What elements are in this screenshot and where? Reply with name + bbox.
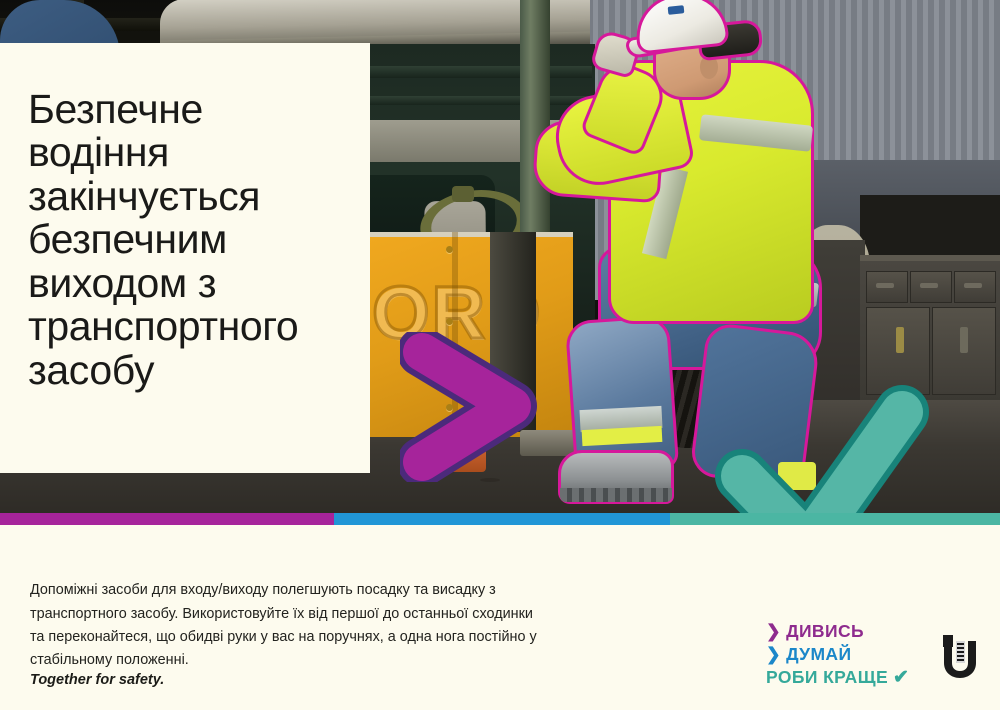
logo-line-1: ДИВИСЬ <box>786 620 864 643</box>
body-copy: Допоміжні засоби для входу/виходу полегш… <box>30 579 550 672</box>
tagline: Together for safety. <box>30 672 164 688</box>
stripe-segment-magenta <box>0 513 334 525</box>
chevron-right-icon <box>400 332 540 482</box>
headline-line-7: засобу <box>28 347 154 393</box>
logo-row-2: ❯ ДУМАЙ <box>766 643 909 666</box>
brand-color-stripe <box>0 513 1000 525</box>
stripe-segment-teal <box>670 513 1000 525</box>
headline-line-4: безпечним <box>28 216 227 262</box>
chevron-right-icon: ❯ <box>766 643 781 666</box>
boot-sole <box>560 488 672 502</box>
check-overlay <box>716 416 916 515</box>
campaign-logo-lockup: ❯ ДИВИСЬ ❯ ДУМАЙ РОБИ КРАЩЕ ✔ <box>766 620 909 690</box>
worker-ear <box>700 55 718 79</box>
brand-u-icon <box>935 633 979 679</box>
chevron-right-icon: ❯ <box>766 620 781 643</box>
headline-panel: Безпечне водіння закінчується безпечним … <box>0 43 370 473</box>
headline-line-5: виходом з <box>28 260 216 306</box>
stripe-segment-blue <box>334 513 670 525</box>
logo-line-2: ДУМАЙ <box>786 643 851 666</box>
headline-line-3: закінчується <box>28 173 260 219</box>
logo-row-1: ❯ ДИВИСЬ <box>766 620 909 643</box>
headline-line-6: транспортного <box>28 303 298 349</box>
hard-hat-logo <box>668 5 685 15</box>
headline-line-2: водіння <box>28 129 169 175</box>
safety-poster: ORD <box>0 0 1000 710</box>
check-icon: ✔ <box>893 666 909 691</box>
check-icon <box>716 416 916 515</box>
worker-leg-front <box>567 317 677 474</box>
brandmark <box>935 633 979 684</box>
headline-line-1: Безпечне <box>28 86 203 132</box>
chevron-overlay <box>400 332 540 487</box>
logo-line-3: РОБИ КРАЩЕ <box>766 666 888 689</box>
logo-row-3: РОБИ КРАЩЕ ✔ <box>766 666 909 691</box>
page-title: Безпечне водіння закінчується безпечним … <box>28 88 340 392</box>
hero-photo: ORD <box>0 0 1000 515</box>
